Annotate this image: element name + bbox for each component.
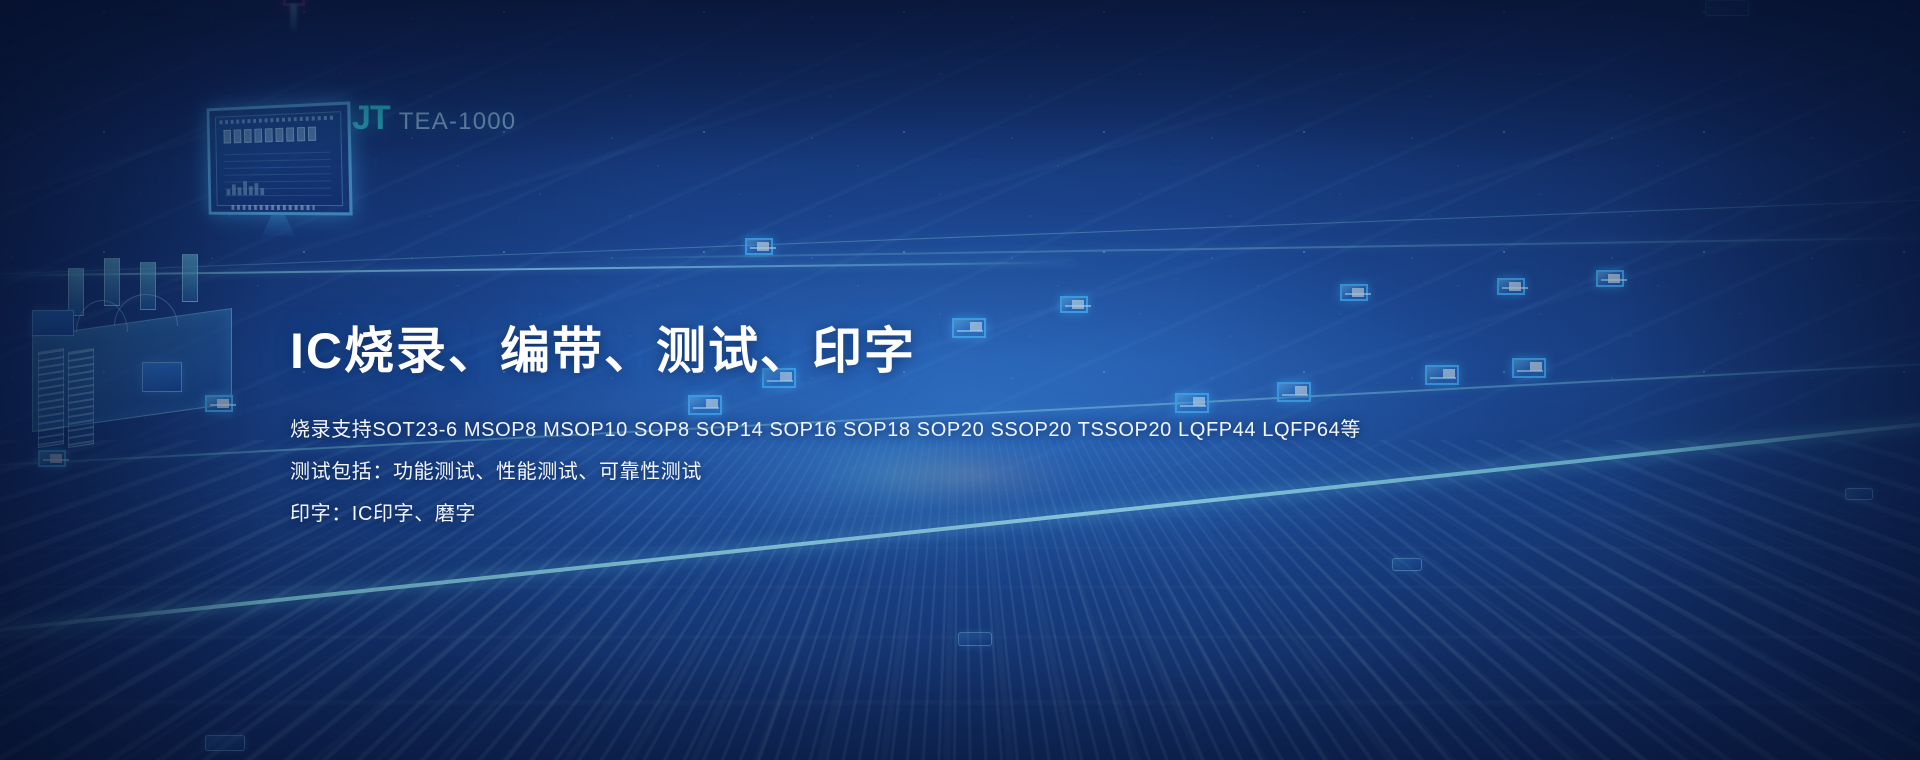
floor-hardware-bit xyxy=(1845,488,1873,500)
chip-panel-icon xyxy=(1497,278,1525,295)
machine-module-box xyxy=(32,310,74,336)
chip-panel-icon xyxy=(205,395,233,412)
banner-copy: IC烧录、编带、测试、印字 烧录支持SOT23-6 MSOP8 MSOP10 S… xyxy=(290,322,1590,535)
floor-hardware-bit xyxy=(205,735,245,751)
machine-rib xyxy=(38,348,64,448)
subtitle-list: 烧录支持SOT23-6 MSOP8 MSOP10 SOP8 SOP14 SOP1… xyxy=(290,409,1590,535)
machine-module-box xyxy=(142,362,182,392)
machine-cable xyxy=(114,294,178,326)
ceiling-hardware-bit xyxy=(1705,0,1749,16)
machine-rib xyxy=(68,348,94,448)
machine-post xyxy=(68,268,84,316)
brand-name: JT xyxy=(352,99,390,138)
ic-service-banner: JT TEA-1000 IC烧录、编带、测试、印字 烧录支持SOT23-6 MS… xyxy=(0,0,1920,760)
floor-hardware-bit xyxy=(1392,558,1422,571)
chip-panel-icon xyxy=(1596,270,1624,287)
chip-panel-icon xyxy=(38,450,66,467)
monitor-graphic xyxy=(207,101,353,215)
monitor-stand xyxy=(262,212,296,236)
floor-hardware-bit xyxy=(958,632,992,646)
machine-post xyxy=(104,258,120,306)
page-title: IC烧录、编带、测试、印字 xyxy=(290,322,1590,381)
screen-chip-row xyxy=(223,127,316,144)
machine-post xyxy=(182,254,198,302)
monitor-bezel-strip xyxy=(231,205,314,210)
shelf-rail-back xyxy=(576,236,1920,260)
subtitle-testing: 测试包括：功能测试、性能测试、可靠性测试 xyxy=(290,451,1590,493)
brand-model: TEA-1000 xyxy=(399,108,517,136)
chip-panel-icon xyxy=(1060,296,1088,313)
industrial-machine-graphic xyxy=(10,250,260,470)
screen-toolbar xyxy=(220,115,336,124)
marker-light-beam xyxy=(290,4,297,34)
subtitle-burn-support: 烧录支持SOT23-6 MSOP8 MSOP10 SOP8 SOP14 SOP1… xyxy=(290,409,1590,451)
brand-lockup: JT TEA-1000 xyxy=(352,99,516,138)
subtitle-marking: 印字：IC印字、磨字 xyxy=(290,493,1590,535)
chip-panel-icon xyxy=(745,238,773,255)
monitor-screen xyxy=(215,111,343,206)
chip-panel-icon xyxy=(1340,284,1368,301)
screen-bar-chart xyxy=(226,179,264,195)
